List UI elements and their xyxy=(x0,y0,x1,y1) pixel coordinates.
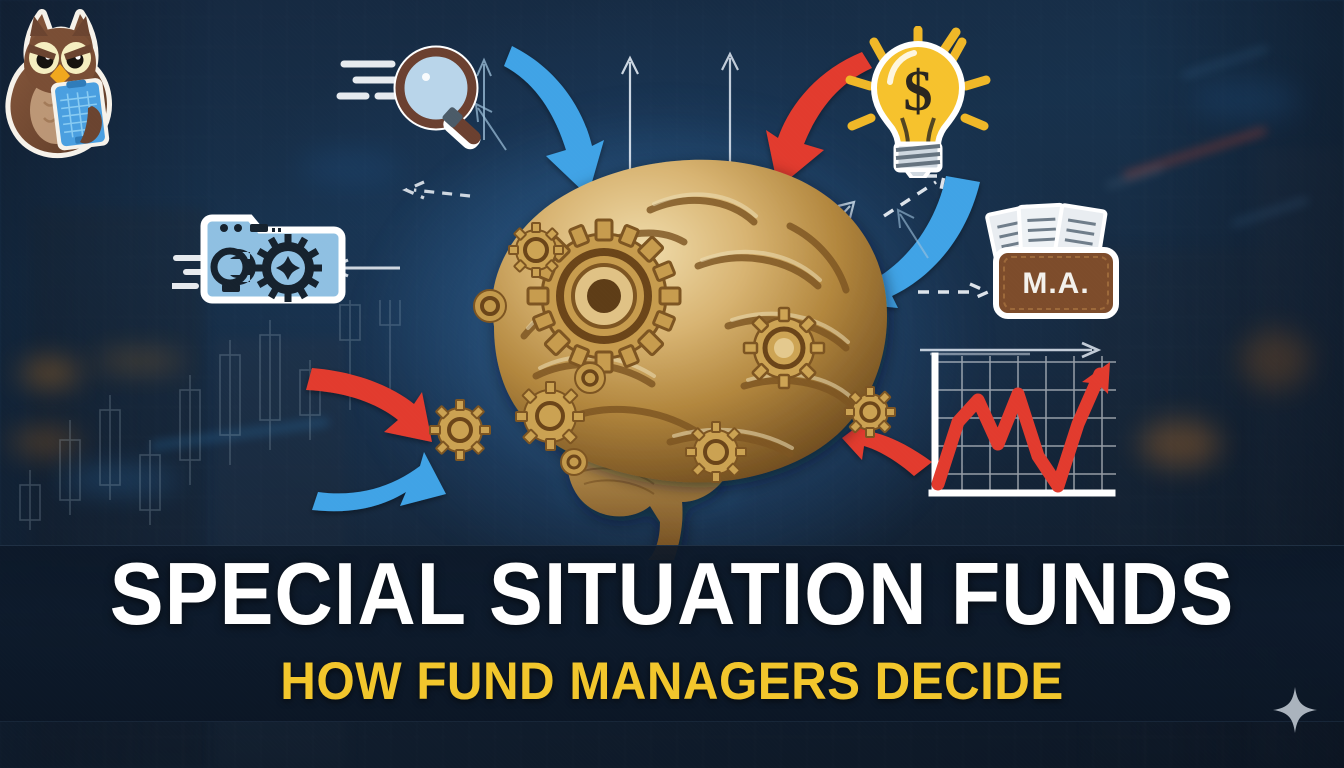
motion-lines xyxy=(340,64,402,96)
magnifying-glass-icon xyxy=(336,44,506,174)
white-dashed-arrow xyxy=(918,284,988,300)
owl-tablet-icon xyxy=(50,77,110,151)
stock-chart-icon xyxy=(920,352,1120,512)
browser-gear-icon xyxy=(172,206,352,314)
dollar-glyph: $ xyxy=(904,58,933,123)
brain-gear-small xyxy=(575,363,605,393)
thumbnail-canvas: $ xyxy=(0,0,1344,768)
brain-gear-small xyxy=(561,449,587,475)
sparkle-icon xyxy=(1272,686,1318,734)
brain-gear-small xyxy=(474,290,506,322)
page-subtitle: HOW FUND MANAGERS DECIDE xyxy=(47,654,1297,710)
chart-svg xyxy=(920,352,1120,512)
mechanical-brain xyxy=(398,130,918,560)
page-title: SPECIAL SITUATION FUNDS xyxy=(54,548,1290,640)
bulb-base xyxy=(896,144,940,178)
mergers-acquisitions-box-icon: M.A. xyxy=(980,192,1130,324)
dollar-sign: $ xyxy=(904,58,933,123)
ma-label: M.A. xyxy=(1022,267,1089,300)
lightbulb-dollar-icon: $ xyxy=(838,26,998,178)
owl-mascot-logo[interactable] xyxy=(4,6,116,161)
brain-gear-small xyxy=(418,388,503,473)
